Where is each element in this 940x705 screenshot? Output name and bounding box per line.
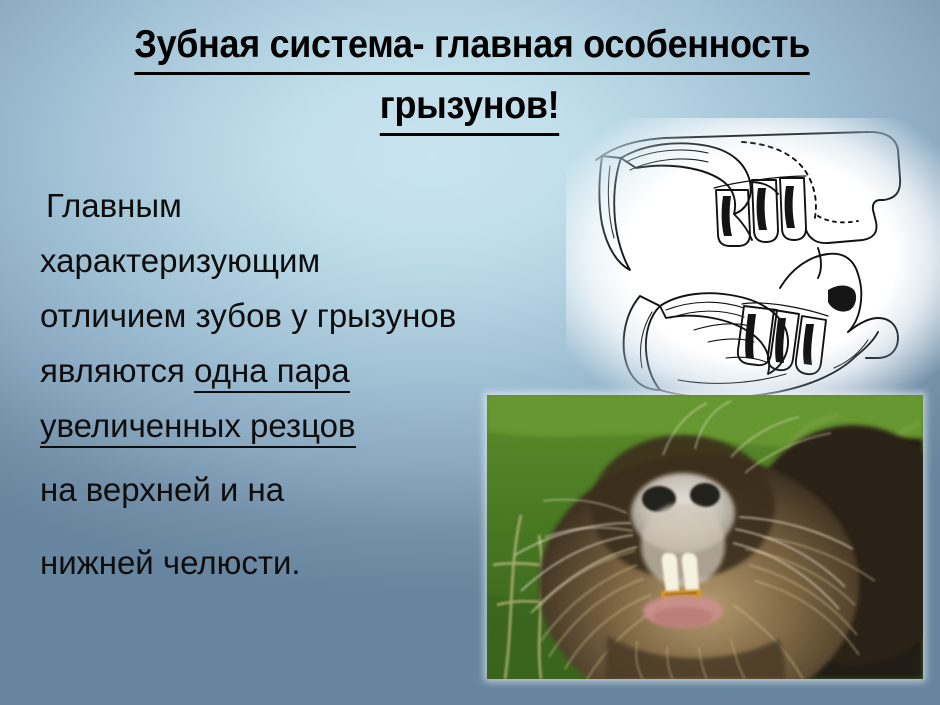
body-line-3-text: отличием зубов у грызунов xyxy=(40,297,456,334)
body-line-4-emphasis: одна пара xyxy=(194,352,350,393)
slide-title: Зубная система- главная особенность грыз… xyxy=(0,18,940,136)
body-line-3: отличием зубов у грызунов xyxy=(40,288,620,343)
body-line-1-text: Главным xyxy=(46,187,182,224)
body-line-1: Главным xyxy=(40,178,620,233)
body-line-6-text: на верхней и на xyxy=(40,471,284,508)
body-line-2-text: характеризующим xyxy=(40,242,320,279)
nutria-photo-svg xyxy=(487,395,923,679)
title-line-2: грызунов! xyxy=(380,79,560,136)
title-line-1: Зубная система- главная особенность xyxy=(134,18,810,75)
body-line-5-emphasis: увеличенных резцов xyxy=(40,407,356,448)
slide-canvas: Зубная система- главная особенность грыз… xyxy=(0,0,940,705)
body-line-4-plain: являются xyxy=(40,352,194,389)
body-line-7-text: нижней челюсти. xyxy=(40,544,301,581)
body-line-2: характеризующим xyxy=(40,233,620,288)
skull-drawing-svg xyxy=(566,118,940,398)
rodent-skull-diagram xyxy=(566,118,940,398)
body-line-4: являются одна пара xyxy=(40,343,620,398)
skull-plate-background xyxy=(566,118,940,398)
nutria-photo xyxy=(487,395,923,679)
